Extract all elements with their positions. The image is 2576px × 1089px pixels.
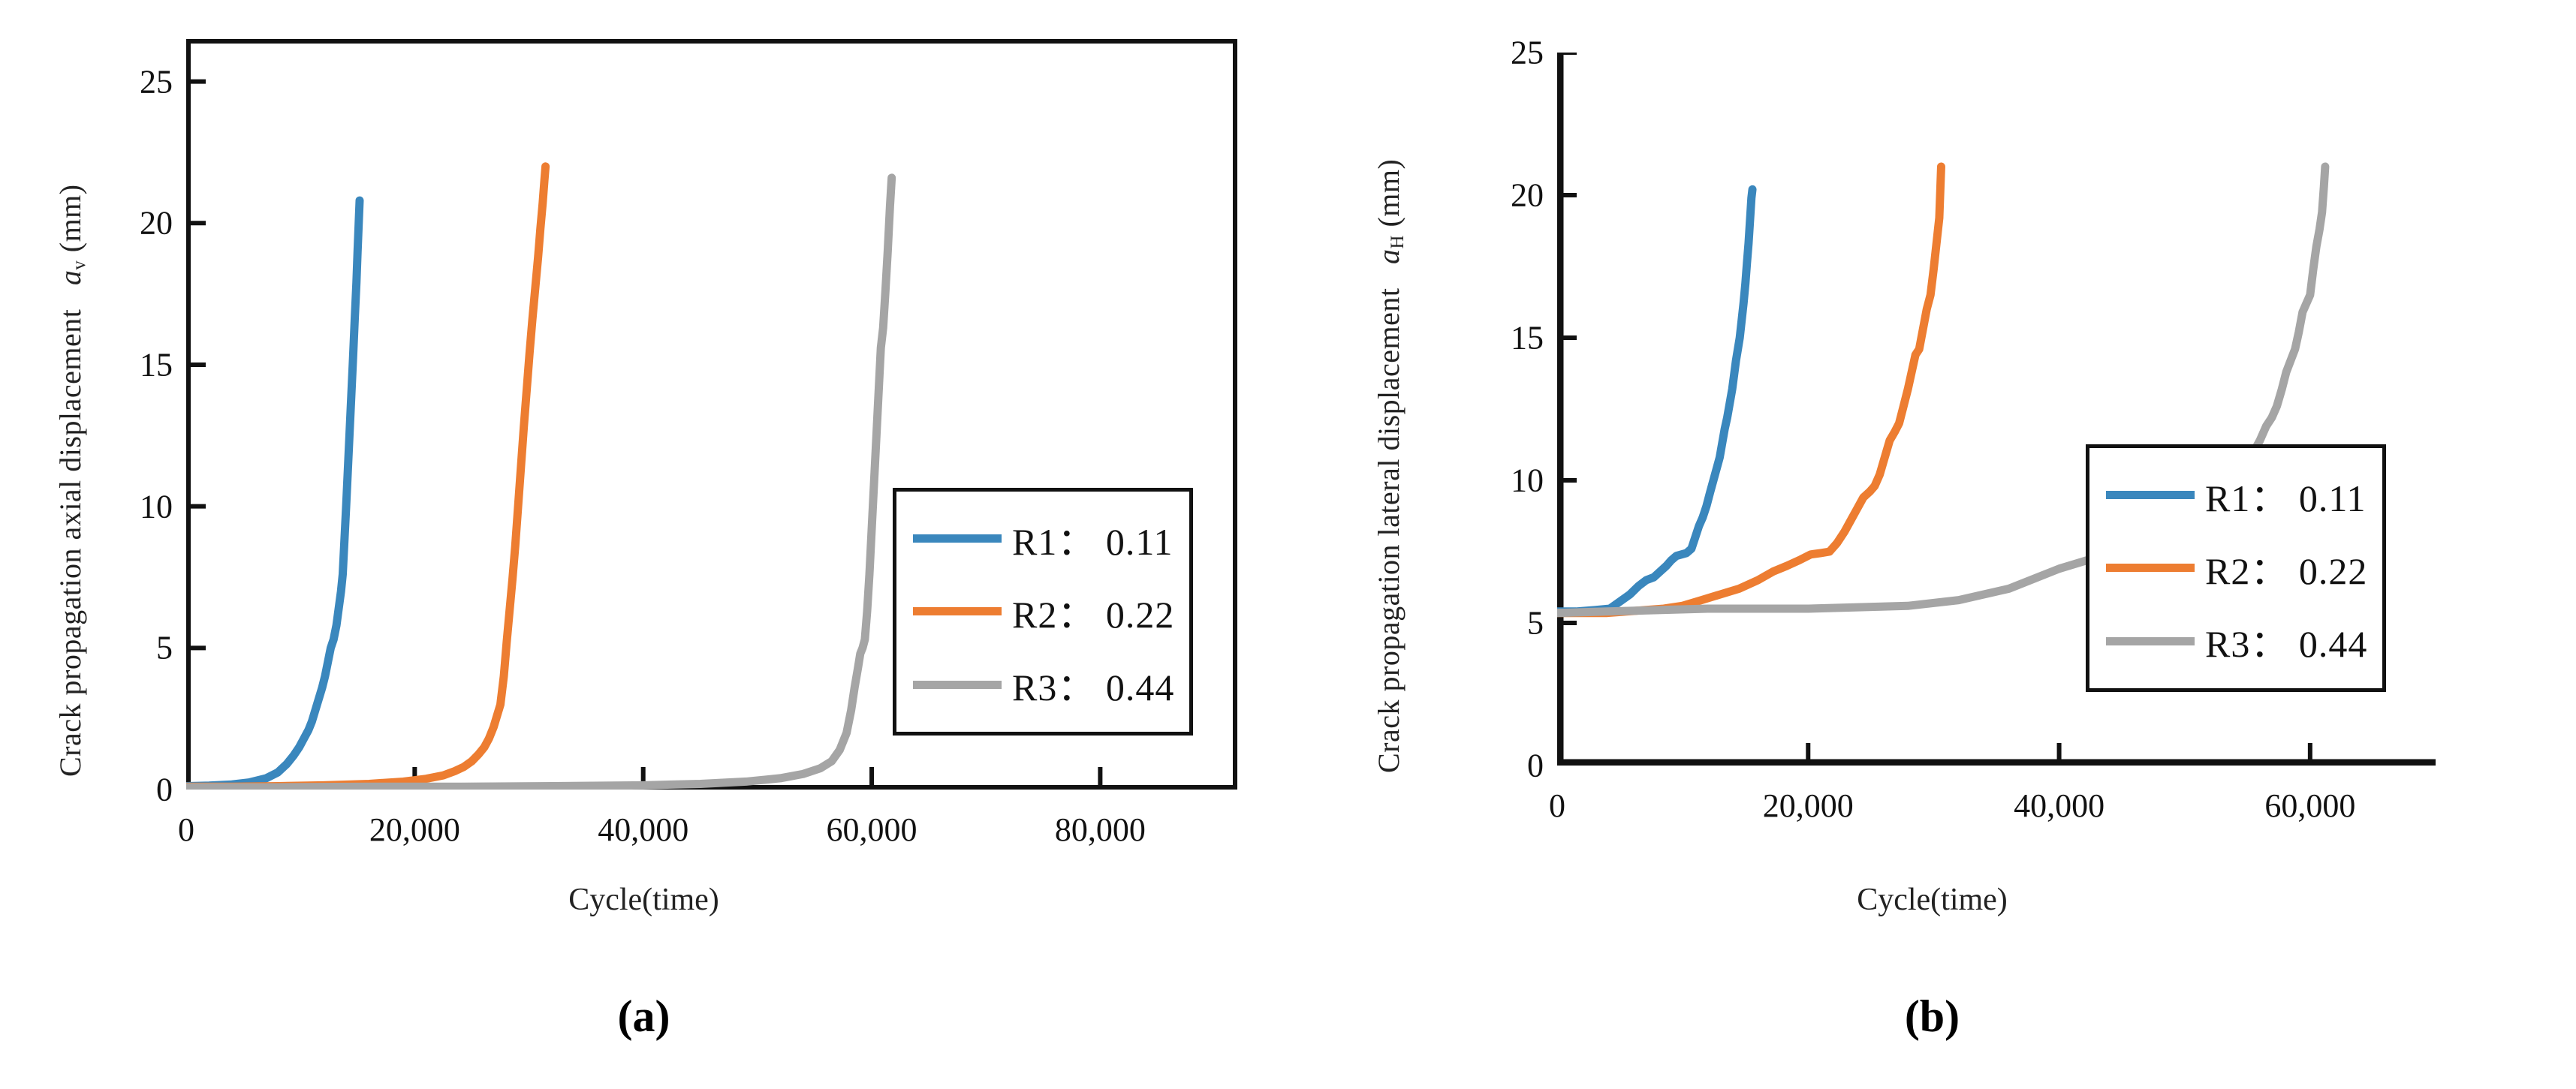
y-tick-label: 20 <box>140 204 173 242</box>
y-axis-title-b: Crack propagation lateral displacement a… <box>1371 159 1409 773</box>
legend-item-label: R3： 0.44 <box>2205 614 2367 668</box>
chart-panel-b: Crack propagation lateral displacement a… <box>1288 0 2576 1089</box>
x-tick-label: 20,000 <box>1763 787 1854 825</box>
y-tick-label: 5 <box>156 629 173 667</box>
legend-color-swatch <box>2106 637 2195 645</box>
y-axis-unit-a: (mm) <box>53 184 87 252</box>
legend-item: R2： 0.22 <box>913 585 1173 639</box>
x-tick-label: 20,000 <box>369 811 460 849</box>
legend-color-swatch <box>913 534 1002 543</box>
legend-item-label: R1： 0.11 <box>1012 512 1174 566</box>
x-tick-label: 80,000 <box>1055 811 1146 849</box>
legend-item-label: R2： 0.22 <box>2205 541 2367 595</box>
y-axis-tick-labels-b: 0510152025 <box>1461 0 1544 751</box>
x-axis-tick-labels-a: 020,00040,00060,00080,000 <box>186 811 1237 856</box>
x-tick-label: 40,000 <box>2014 787 2104 825</box>
legend-color-swatch <box>913 681 1002 689</box>
subfigure-caption-a: (a) <box>0 991 1288 1042</box>
y-tick-label: 15 <box>140 345 173 384</box>
legend-item-label: R3： 0.44 <box>1012 657 1174 711</box>
y-tick-label: 10 <box>1511 462 1544 500</box>
x-tick-label: 40,000 <box>598 811 688 849</box>
legend-item: R1： 0.11 <box>913 512 1173 566</box>
legend-item: R2： 0.22 <box>2106 541 2366 595</box>
y-tick-label: 25 <box>140 62 173 101</box>
y-axis-symbol-b: aH <box>1372 235 1406 264</box>
legend-item: R3： 0.44 <box>913 657 1173 711</box>
y-axis-title-text-b: Crack propagation lateral displacement <box>1372 287 1406 773</box>
y-axis-title-text-a: Crack propagation axial displacement <box>53 309 87 777</box>
legend-color-swatch <box>913 607 1002 615</box>
legend-b: R1： 0.11R2： 0.22R3： 0.44 <box>2086 444 2386 692</box>
y-tick-label: 0 <box>1527 747 1544 785</box>
y-tick-label: 5 <box>1527 604 1544 642</box>
legend-item: R3： 0.44 <box>2106 614 2366 668</box>
legend-item-label: R1： 0.11 <box>2205 468 2367 522</box>
legend-color-swatch <box>2106 564 2195 572</box>
legend-item: R1： 0.11 <box>2106 468 2366 522</box>
x-tick-label: 60,000 <box>2264 787 2355 825</box>
y-axis-title-a: Crack propagation axial displacement av … <box>53 184 90 777</box>
y-tick-label: 25 <box>1511 34 1544 72</box>
legend-a: R1： 0.11R2： 0.22R3： 0.44 <box>893 488 1193 736</box>
y-axis-tick-labels-a: 0510152025 <box>90 0 173 796</box>
y-tick-label: 15 <box>1511 319 1544 357</box>
figure-container: Crack propagation axial displacement av … <box>0 0 2576 1089</box>
y-axis-unit-b: (mm) <box>1372 159 1406 227</box>
x-tick-label: 0 <box>178 811 194 849</box>
x-tick-label: 0 <box>1549 787 1565 825</box>
y-axis-symbol-a: av <box>53 260 87 285</box>
x-axis-title-a: Cycle(time) <box>0 882 1288 918</box>
x-axis-tick-labels-b: 020,00040,00060,000 <box>1557 787 2436 832</box>
subfigure-caption-b: (b) <box>1288 991 2576 1042</box>
legend-color-swatch <box>2106 491 2195 499</box>
chart-panel-a: Crack propagation axial displacement av … <box>0 0 1288 1089</box>
y-tick-label: 0 <box>156 771 173 809</box>
x-tick-label: 60,000 <box>827 811 917 849</box>
y-tick-label: 10 <box>140 487 173 525</box>
y-tick-label: 20 <box>1511 176 1544 215</box>
x-axis-title-b: Cycle(time) <box>1288 882 2576 918</box>
legend-item-label: R2： 0.22 <box>1012 585 1174 639</box>
